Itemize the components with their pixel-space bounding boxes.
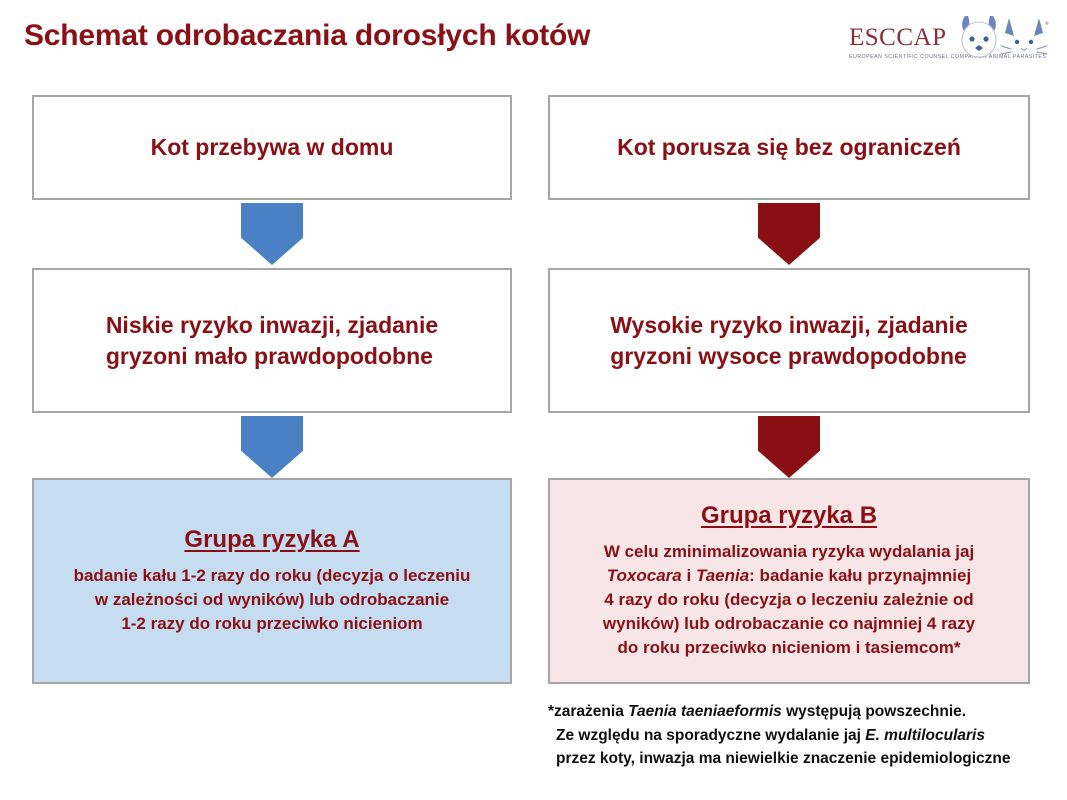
dog-and-cat-face-icon: ®	[953, 12, 1049, 68]
footnote-line-2: Ze względu na sporadyczne wydalanie jaj …	[548, 724, 1048, 748]
right-arrow-down-1-icon	[758, 203, 820, 265]
group-a-content: Grupa ryzyka A badanie kału 1-2 razy do …	[34, 526, 510, 636]
footnote-line-1: *zarażenia Taenia taeniaeformis występuj…	[548, 700, 1048, 724]
logo-wordmark: ESCCAP	[849, 24, 946, 52]
footnote-line-3: przez koty, inwazja ma niewielkie znacze…	[548, 747, 1048, 771]
footnote: *zarażenia Taenia taeniaeformis występuj…	[548, 700, 1048, 771]
right-step2-line1: Wysokie ryzyko inwazji, zjadanie	[610, 312, 968, 338]
right-step2-text: Wysokie ryzyko inwazji, zjadanie gryzoni…	[592, 310, 986, 372]
left-step2-box: Niskie ryzyko inwazji, zjadanie gryzoni …	[32, 268, 512, 413]
esccap-logo: ESCCAP EUROPEAN SCIENTIFIC COUNSEL COMPA…	[849, 12, 1049, 74]
group-a-body: badanie kału 1-2 razy do roku (decyzja o…	[44, 564, 500, 636]
page-header: Schemat odrobaczania dorosłych kotów ESC…	[0, 0, 1067, 88]
footnote-species-taenia-taeniaeformis: Taenia taeniaeformis	[628, 703, 782, 720]
footnote-species-e-multilocularis: E. multilocularis	[865, 727, 985, 744]
group-b-body: W celu zminimalizowania ryzyka wydalania…	[560, 540, 1018, 661]
group-a-line2: w zależności od wyników) lub odrobaczani…	[95, 590, 449, 609]
group-b-line2-rest: : badanie kału przynajmniej	[749, 566, 971, 585]
left-step1-box: Kot przebywa w domu	[32, 95, 512, 200]
group-b-line3: 4 razy do roku (decyzja o leczeniu zależ…	[604, 590, 973, 609]
left-arrow-down-1-icon	[241, 203, 303, 265]
left-step2-text: Niskie ryzyko inwazji, zjadanie gryzoni …	[88, 310, 456, 372]
group-b-species-taenia: Taenia	[696, 566, 749, 585]
svg-text:®: ®	[1045, 21, 1049, 27]
group-a-result-box: Grupa ryzyka A badanie kału 1-2 razy do …	[32, 478, 512, 684]
right-step2-box: Wysokie ryzyko inwazji, zjadanie gryzoni…	[548, 268, 1030, 413]
group-b-result-box: Grupa ryzyka B W celu zminimalizowania r…	[548, 478, 1030, 684]
group-b-species-toxocara: Toxocara	[607, 566, 682, 585]
group-b-content: Grupa ryzyka B W celu zminimalizowania r…	[550, 502, 1028, 660]
left-step2-line2: gryzoni mało prawdopodobne	[106, 343, 433, 369]
group-b-line1: W celu zminimalizowania ryzyka wydalania…	[604, 542, 974, 561]
right-step2-line2: gryzoni wysoce prawdopodobne	[610, 343, 967, 369]
footnote-line1-a: *zarażenia	[548, 703, 628, 720]
right-step1-text: Kot porusza się bez ograniczeń	[617, 133, 961, 162]
group-a-line3: 1-2 razy do roku przeciwko nicieniom	[121, 614, 422, 633]
right-arrow-down-2-icon	[758, 416, 820, 478]
left-step1-text: Kot przebywa w domu	[151, 133, 394, 162]
page-title: Schemat odrobaczania dorosłych kotów	[24, 19, 590, 53]
left-arrow-down-2-icon	[241, 416, 303, 478]
group-b-heading: Grupa ryzyka B	[560, 502, 1018, 531]
group-b-line4: wyników) lub odrobaczanie co najmniej 4 …	[603, 614, 975, 633]
left-step2-line1: Niskie ryzyko inwazji, zjadanie	[106, 312, 438, 338]
right-step1-box: Kot porusza się bez ograniczeń	[548, 95, 1030, 200]
footnote-line1-c: występują powszechnie.	[782, 703, 966, 720]
group-a-line1: badanie kału 1-2 razy do roku (decyzja o…	[74, 566, 471, 585]
group-a-heading: Grupa ryzyka A	[44, 526, 500, 555]
footnote-line2-a: Ze względu na sporadyczne wydalanie jaj	[556, 727, 865, 744]
group-b-line5: do roku przeciwko nicieniom i tasiemcom*	[618, 638, 961, 657]
group-b-line2-join: i	[682, 566, 696, 585]
